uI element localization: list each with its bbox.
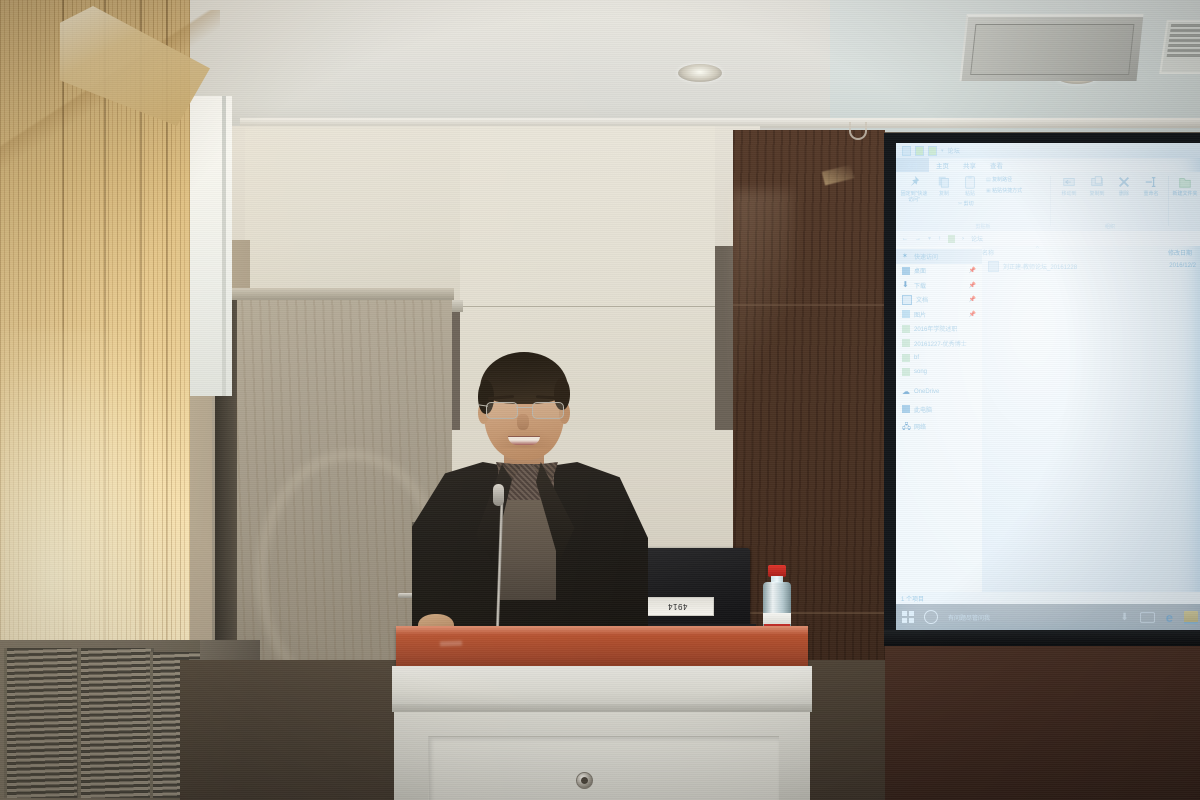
file-explorer-window[interactable]: ▾ 论坛 文件 主页 共享 查看 固定到"快速访问" xyxy=(896,143,1200,630)
mouth xyxy=(508,436,540,445)
ribbon-group-clipboard-label: 剪贴板 xyxy=(948,223,1018,230)
paste-shortcut-icon: ▣ xyxy=(986,188,991,194)
ribbon-separator xyxy=(1050,176,1051,226)
copy-to-label: 复制到 xyxy=(1084,191,1110,197)
wall-hook-icon xyxy=(849,122,867,140)
status-item-count: 1 个项目 xyxy=(901,594,924,603)
pin-icon[interactable]: 📌 xyxy=(969,267,976,274)
sidebar-item-folder-20161227[interactable]: 20161227-优秀博士 xyxy=(896,336,982,351)
windows-start-icon[interactable] xyxy=(902,611,914,623)
sidebar-item-label: 2016年学院述职 xyxy=(914,324,957,333)
explorer-address-bar[interactable]: ← → ▾ ↑ › 论坛 xyxy=(896,231,1200,246)
move-to-label: 移动到 xyxy=(1056,191,1082,197)
lens-left xyxy=(486,402,518,419)
powerpoint-file-icon xyxy=(988,261,999,272)
sidebar-item-quick-access[interactable]: ✶ 快速访问 xyxy=(896,249,982,264)
ribbon-separator xyxy=(1168,176,1169,226)
lower-right-wood-wall xyxy=(885,630,1200,800)
pin-icon[interactable]: 📌 xyxy=(969,296,976,303)
pin-icon xyxy=(907,174,921,190)
ceiling-access-panel-inner xyxy=(970,24,1134,75)
folder-icon xyxy=(902,339,910,347)
ribbon-command-copy-to[interactable]: 复制到 xyxy=(1084,174,1110,197)
column-header-modified[interactable]: 修改日期 xyxy=(1168,248,1192,257)
ribbon-command-delete[interactable]: 删除 xyxy=(1112,174,1136,197)
ribbon-command-pin-to-quick-access[interactable]: 固定到"快速访问" xyxy=(899,174,929,203)
ceiling-access-panel xyxy=(959,14,1143,81)
this-pc-icon xyxy=(902,405,910,413)
star-pin-icon: ✶ xyxy=(902,252,910,260)
rename-label: 重命名 xyxy=(1138,191,1164,197)
sidebar-item-label: 快速访问 xyxy=(914,252,938,261)
copy-path-label: 复制路径 xyxy=(992,177,1012,183)
podium-upper-body xyxy=(392,666,812,708)
save-icon[interactable] xyxy=(902,146,911,156)
folder-icon xyxy=(948,235,955,243)
sidebar-item-this-pc[interactable]: 此电脑 xyxy=(896,402,982,417)
paste-icon xyxy=(963,174,977,190)
glasses-bridge xyxy=(516,407,532,408)
folder-icon xyxy=(902,368,910,376)
file-explorer-icon[interactable] xyxy=(1184,611,1198,624)
undo-icon[interactable] xyxy=(915,146,924,156)
sidebar-item-label: 下载 xyxy=(914,281,926,290)
ribbon-command-paste[interactable]: 粘贴 xyxy=(958,174,982,197)
sidebar-item-desktop[interactable]: 桌面 📌 xyxy=(896,264,982,279)
forward-arrow-icon[interactable]: → xyxy=(915,236,921,242)
sidebar-item-label: 文档 xyxy=(916,295,928,304)
paste-shortcut-label: 粘贴快捷方式 xyxy=(992,188,1022,194)
ribbon-command-copy[interactable]: 复制 xyxy=(932,174,956,197)
sidebar-item-label: 20161227-优秀博士 xyxy=(914,339,967,348)
new-folder-label: 新建文件夹 xyxy=(1172,191,1198,197)
copy-to-icon xyxy=(1090,174,1104,190)
document-icon xyxy=(902,295,912,305)
sidebar-item-documents[interactable]: 文档 📌 xyxy=(896,293,982,308)
laptop-asset-tag-number: 4914 xyxy=(668,602,688,611)
explorer-status-bar: 1 个项目 xyxy=(896,592,1200,604)
tab-file[interactable]: 文件 xyxy=(896,158,929,172)
podium-lip xyxy=(392,704,812,712)
sidebar-item-folder-song[interactable]: song xyxy=(896,365,982,380)
lens-right xyxy=(532,402,564,419)
window-mullion xyxy=(222,96,226,396)
ribbon-command-cut[interactable]: ✂ 剪切 xyxy=(958,200,974,207)
desktop-icon xyxy=(902,267,910,275)
sidebar-item-label: 网络 xyxy=(914,422,926,431)
delete-label: 删除 xyxy=(1112,191,1136,197)
projection-screen-bottom-bar xyxy=(884,630,1200,646)
wood-panel-gloss xyxy=(733,190,793,410)
cortana-circle-icon[interactable] xyxy=(924,610,938,624)
breadcrumb-separator: › xyxy=(962,236,964,242)
back-arrow-icon[interactable]: ← xyxy=(902,236,908,242)
paste-label: 粘贴 xyxy=(958,191,982,197)
sidebar-item-downloads[interactable]: ⬇ 下载 📌 xyxy=(896,278,982,293)
podium-top-highlight xyxy=(396,626,808,635)
sidebar-item-label: bf xyxy=(914,355,919,361)
podium-cabinet-door[interactable] xyxy=(428,736,779,800)
up-arrow-icon[interactable]: ↑ xyxy=(938,236,941,242)
explorer-file-list[interactable]: 刘正建-教师论坛_20161228 2016/12/2 xyxy=(982,259,1200,604)
list-item[interactable]: 刘正建-教师论坛_20161228 2016/12/2 xyxy=(982,259,1200,273)
copy-icon xyxy=(937,174,951,190)
rename-icon xyxy=(1144,174,1158,190)
edge-browser-icon[interactable]: e xyxy=(1166,610,1173,625)
sidebar-item-label: 桌面 xyxy=(914,266,926,275)
breadcrumb[interactable]: 论坛 xyxy=(971,234,983,243)
ribbon-command-copy-path[interactable]: ▤ 复制路径 xyxy=(986,176,1012,183)
sidebar-item-label: OneDrive xyxy=(914,389,939,395)
sidebar-item-label: 此电脑 xyxy=(914,405,932,414)
tab-home[interactable]: 主页 xyxy=(929,158,956,172)
new-folder-icon xyxy=(1178,174,1192,190)
bottle-label xyxy=(763,613,791,624)
sidebar-item-label: 图片 xyxy=(914,310,926,319)
network-icon: 🖧 xyxy=(902,423,910,431)
copy-label: 复制 xyxy=(932,191,956,197)
podium-cabinet-lock[interactable] xyxy=(576,772,593,789)
ceiling-downlight xyxy=(678,64,722,82)
move-to-icon xyxy=(1062,174,1076,190)
curtain-sunlight-glow xyxy=(0,330,175,660)
onedrive-cloud-icon: ☁ xyxy=(902,388,910,396)
ceiling-air-vent-icon xyxy=(1159,20,1200,74)
tab-share[interactable]: 共享 xyxy=(956,158,983,172)
chevron-down-icon[interactable]: ▾ xyxy=(941,148,944,154)
laptop-asset-label: 4914 xyxy=(641,597,714,616)
sidebar-item-pictures[interactable]: 图片 📌 xyxy=(896,307,982,322)
explorer-window-title: 论坛 xyxy=(948,146,961,155)
sidebar-item-folder-bf[interactable]: bf xyxy=(896,351,982,366)
download-icon: ⬇ xyxy=(902,281,910,289)
cortana-search-placeholder[interactable]: 有问题尽管问我 xyxy=(948,613,990,622)
radiator-louver-panel xyxy=(78,648,154,798)
column-header-name[interactable]: 名称 xyxy=(982,248,1100,257)
taskbar-pinned-apps[interactable]: ⬇ e xyxy=(1120,610,1200,625)
water-bottle xyxy=(760,565,794,631)
task-view-icon[interactable] xyxy=(1140,612,1155,623)
ribbon-command-move-to[interactable]: 移动到 xyxy=(1056,174,1082,197)
copy-path-icon: ▤ xyxy=(986,177,991,183)
folder-icon xyxy=(902,354,910,362)
podium-surface-scuff xyxy=(440,641,462,647)
pin-icon[interactable]: 📌 xyxy=(969,282,976,289)
tab-view[interactable]: 查看 xyxy=(983,158,1010,172)
sidebar-item-folder-2016[interactable]: 2016年学院述职 xyxy=(896,322,982,337)
microphone-head xyxy=(493,484,504,506)
file-name: 刘正建-教师论坛_20161228 xyxy=(1003,262,1077,271)
projection-screen: ▾ 论坛 文件 主页 共享 查看 固定到"快速访问" xyxy=(896,143,1200,630)
sidebar-item-onedrive[interactable]: ☁ OneDrive xyxy=(896,385,982,400)
windows-taskbar[interactable]: 有问题尽管问我 ⬇ e xyxy=(896,604,1200,630)
ribbon-command-paste-shortcut[interactable]: ▣ 粘贴快捷方式 xyxy=(986,187,1022,194)
explorer-tab-strip[interactable]: 文件 主页 共享 查看 xyxy=(896,158,1200,172)
wall-panel-left xyxy=(245,128,461,306)
sort-ascending-icon: ^ xyxy=(1036,246,1039,252)
explorer-title-bar[interactable]: ▾ 论坛 xyxy=(896,143,1200,158)
presenter xyxy=(412,352,648,652)
history-dropdown-icon[interactable]: ▾ xyxy=(928,235,931,242)
sidebar-item-network[interactable]: 🖧 网络 xyxy=(896,420,982,435)
ribbon-command-rename[interactable]: 重命名 xyxy=(1138,174,1164,197)
folder-icon xyxy=(902,325,910,333)
cut-label: 剪切 xyxy=(964,201,974,207)
delete-x-icon xyxy=(1117,174,1131,190)
redo-icon[interactable] xyxy=(928,146,937,156)
wood-panel-seam xyxy=(733,612,885,614)
download-arrow-icon[interactable]: ⬇ xyxy=(1120,612,1128,623)
explorer-column-headers[interactable]: 名称 ^ 修改日期 xyxy=(982,246,1200,259)
file-modified-date: 2016/12/2 xyxy=(1169,263,1196,269)
pin-icon[interactable]: 📌 xyxy=(969,311,976,318)
radiator-louver-panel xyxy=(4,648,80,798)
explorer-navigation-pane[interactable]: ✶ 快速访问 桌面 📌 ⬇ 下载 📌 文档 📌 xyxy=(896,246,982,604)
ribbon-group-organize-label: 组织 xyxy=(1056,223,1164,230)
door-header-trim xyxy=(212,288,454,300)
explorer-ribbon[interactable]: 固定到"快速访问" 复制 粘贴 ▤ 复制路径 xyxy=(896,172,1200,232)
conference-room-photo: ▾ 论坛 文件 主页 共享 查看 固定到"快速访问" xyxy=(0,0,1200,800)
sidebar-item-label: song xyxy=(914,369,927,375)
wall-seam xyxy=(460,306,715,307)
pictures-icon xyxy=(902,310,910,318)
cut-icon: ✂ xyxy=(958,201,962,207)
ribbon-command-new-folder[interactable]: 新建文件夹 xyxy=(1172,174,1198,197)
pin-label: 固定到"快速访问" xyxy=(899,191,929,203)
